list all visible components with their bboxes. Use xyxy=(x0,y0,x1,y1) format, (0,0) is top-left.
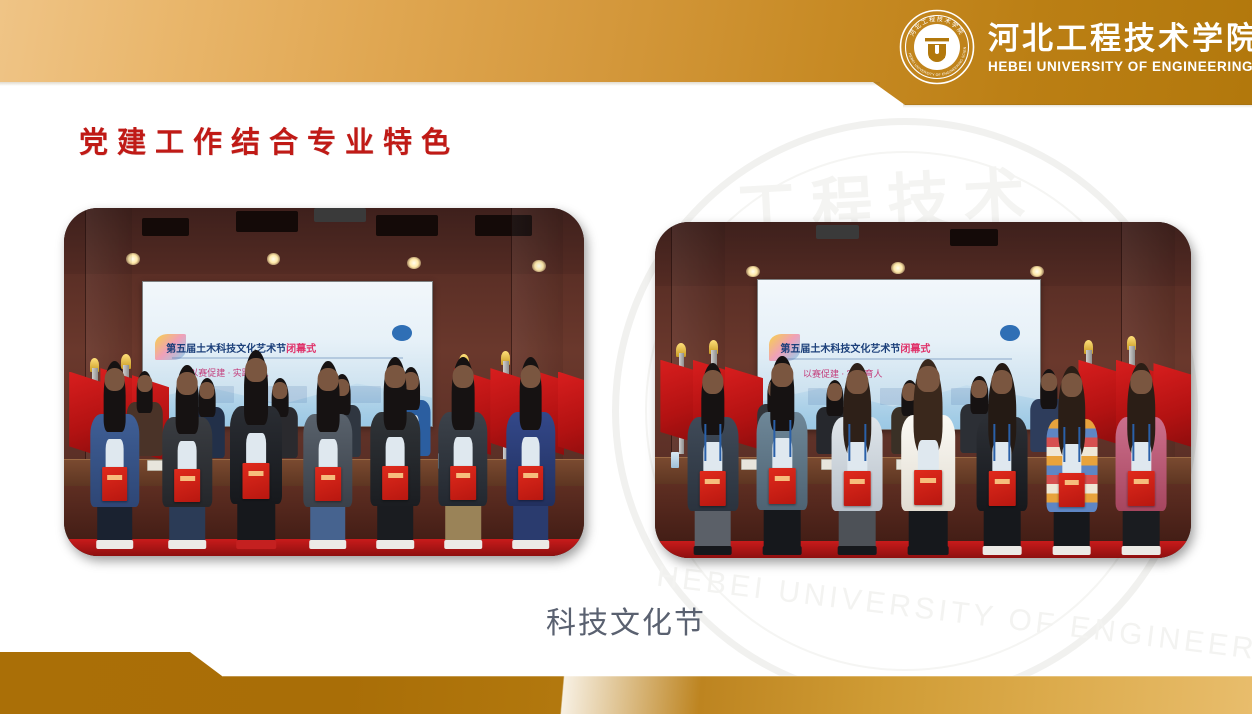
award-certificate xyxy=(1058,473,1084,507)
photo-caption: 科技文化节 xyxy=(0,598,1252,642)
ceiling-light xyxy=(891,262,905,273)
photo-right-scene: 第五届土木科技文化艺术节闭幕式 以赛促建 · 实践育人 xyxy=(655,222,1191,558)
person-shoes xyxy=(983,546,1022,555)
ceiling xyxy=(655,222,1191,286)
person-shoes xyxy=(377,540,415,549)
award-certificate xyxy=(450,466,476,500)
award-recipient xyxy=(977,370,1028,551)
header-edge-shadow-right xyxy=(903,104,1252,108)
person-shoes xyxy=(309,540,347,549)
award-recipient xyxy=(1116,370,1167,551)
person-head xyxy=(847,370,868,394)
person-head xyxy=(1131,370,1152,394)
award-recipient xyxy=(438,365,487,546)
ceiling-light xyxy=(1030,266,1044,277)
award-recipient xyxy=(230,358,282,546)
ceiling-fixture xyxy=(142,218,189,235)
award-recipient xyxy=(832,370,883,551)
university-name-block: 河北工程技术学院 HEBEI UNIVERSITY OF ENGINEERING… xyxy=(988,20,1252,75)
water-bottle xyxy=(671,452,679,467)
screen-title-main: 第五届土木科技文化艺术节 xyxy=(780,344,900,355)
photo-award-ceremony-faculty: 第五届土木科技文化艺术节闭幕式 以赛促建 · 实践育人 xyxy=(655,222,1191,558)
page-title: 党建工作结合专业特色 xyxy=(79,119,459,161)
ceiling-fixture xyxy=(376,215,438,236)
award-recipient xyxy=(1046,373,1097,551)
presentation-slide: 工程技术 HEBEI UNIVERSITY OF ENGINEERING SCI… xyxy=(0,0,1252,714)
screen-rule xyxy=(786,358,1012,360)
lanyard xyxy=(993,424,1010,460)
person-shoes xyxy=(169,540,207,549)
award-recipient xyxy=(902,366,956,551)
person-head xyxy=(702,370,723,394)
ceiling-light xyxy=(746,266,760,277)
person-legs xyxy=(1123,504,1160,551)
person-shoes xyxy=(1052,546,1091,555)
person-legs xyxy=(984,504,1021,551)
award-certificate xyxy=(175,469,201,502)
slide-footer-band xyxy=(0,644,1252,714)
person-head xyxy=(245,358,267,382)
person-legs xyxy=(694,504,731,551)
award-certificate xyxy=(699,471,725,505)
person-legs xyxy=(97,499,133,545)
lanyard xyxy=(849,424,866,460)
photo-award-ceremony-students: 第五届土木科技文化艺术节闭幕式 以赛促建 · 实践育人 xyxy=(64,208,584,556)
award-recipient xyxy=(687,370,738,551)
person-shoes xyxy=(693,546,732,555)
award-certificate xyxy=(914,470,942,505)
award-recipient xyxy=(506,365,555,546)
screen-rule xyxy=(172,357,403,359)
screen-title-text: 第五届土木科技文化艺术节闭幕式 xyxy=(780,340,1023,355)
lanyard xyxy=(1133,424,1150,460)
screen-subtitle: 以赛促建 · 实践育人 xyxy=(189,366,391,379)
ceiling-fixture xyxy=(816,225,859,238)
ceiling-light xyxy=(407,257,421,269)
lanyard xyxy=(774,420,791,458)
ceiling-fixture xyxy=(950,229,998,246)
award-certificate xyxy=(102,467,128,501)
person-head xyxy=(1061,373,1082,397)
award-certificate xyxy=(518,466,544,500)
person-shoes xyxy=(1122,546,1161,555)
person-head xyxy=(520,365,541,388)
award-recipient xyxy=(303,368,352,545)
person-shoes xyxy=(444,540,482,549)
person-shoes xyxy=(763,546,802,555)
award-certificate xyxy=(844,471,870,505)
award-certificate xyxy=(315,467,341,501)
person-shoes xyxy=(237,540,277,549)
screen-title-text: 第五届土木科技文化艺术节闭幕式 xyxy=(166,340,415,355)
award-recipient xyxy=(757,363,808,551)
person-head xyxy=(917,366,940,391)
screen-title-highlight: 闭幕式 xyxy=(286,344,316,355)
footer-gradient-shape xyxy=(0,644,1252,714)
person-head xyxy=(991,370,1012,394)
screen-title-highlight: 闭幕式 xyxy=(900,344,930,355)
person-shoes xyxy=(96,540,134,549)
person-shoes xyxy=(838,546,877,555)
person-legs xyxy=(839,504,876,551)
header-edge-shadow-left xyxy=(0,82,880,86)
chinese-flag xyxy=(558,372,584,459)
lanyard xyxy=(704,424,721,460)
person-head xyxy=(318,368,339,391)
lanyard xyxy=(1063,427,1080,463)
screen-title-main: 第五届土木科技文化艺术节 xyxy=(166,344,286,355)
university-name-cn: 河北工程技术学院 xyxy=(988,20,1252,59)
person-shoes xyxy=(512,540,550,549)
ceiling-fixture xyxy=(236,211,298,232)
footer-highlight-line xyxy=(222,675,1252,677)
person-head xyxy=(385,365,406,388)
award-certificate xyxy=(989,471,1015,505)
ceiling-fixture xyxy=(314,208,366,222)
person-head xyxy=(104,368,125,391)
person-head xyxy=(177,372,198,395)
university-name-en: HEBEI UNIVERSITY OF ENGINEERING SCIENCE xyxy=(988,59,1252,74)
award-recipient xyxy=(371,365,420,546)
award-recipient xyxy=(90,368,139,545)
award-certificate xyxy=(1128,471,1154,505)
person-head xyxy=(772,363,793,387)
photo-left-scene: 第五届土木科技文化艺术节闭幕式 以赛促建 · 实践育人 xyxy=(64,208,584,556)
person-legs xyxy=(170,500,206,545)
award-certificate xyxy=(243,463,270,499)
university-seal-icon: 河北工程技术学院 HEBEI UNIVERSITY OF ENGINEERING… xyxy=(898,8,976,86)
award-recipient xyxy=(163,372,212,546)
university-logo-lockup: 河北工程技术学院 HEBEI UNIVERSITY OF ENGINEERING… xyxy=(898,8,1252,86)
person-shoes xyxy=(908,546,949,555)
award-certificate xyxy=(769,468,795,504)
person-legs xyxy=(310,499,346,545)
person-head xyxy=(453,365,474,388)
award-certificate xyxy=(383,466,409,500)
